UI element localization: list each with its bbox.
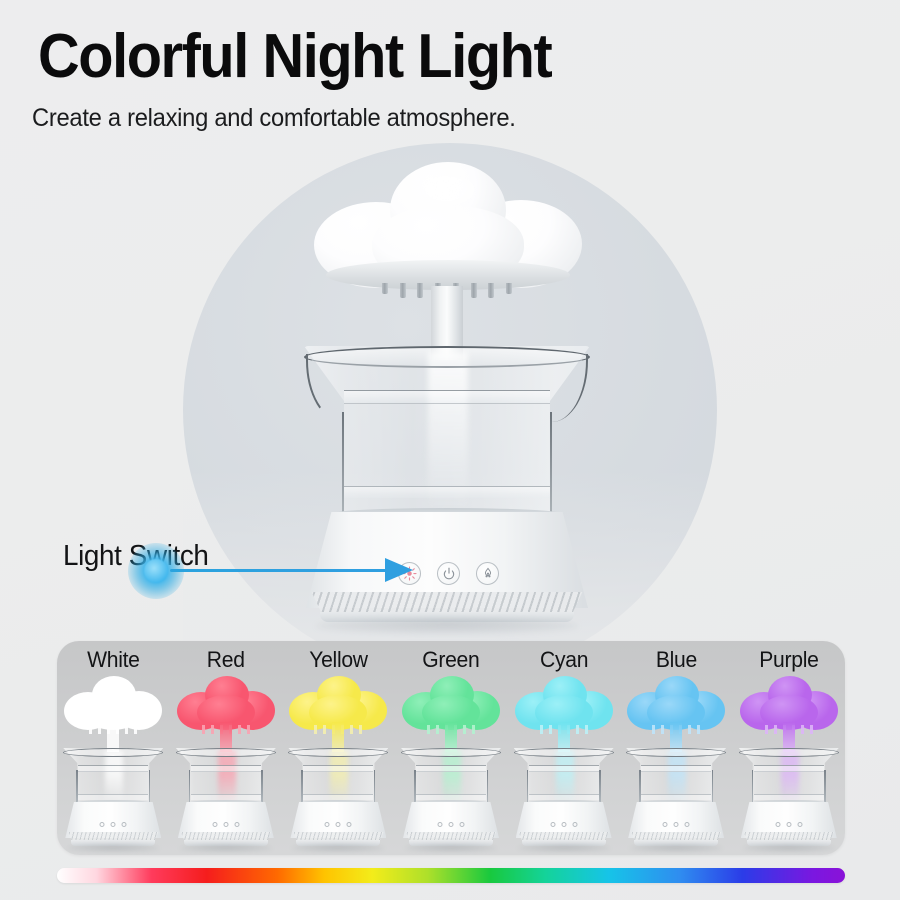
thumb-tank-rim bbox=[739, 748, 839, 757]
thumb-tank-rim bbox=[626, 748, 726, 757]
color-swatch-label: Cyan bbox=[540, 647, 588, 673]
rain-nozzle bbox=[506, 283, 512, 294]
color-swatch-row: WhiteRedYellowGreenCyanBluePurple bbox=[57, 641, 845, 855]
thumb-shadow bbox=[67, 844, 159, 852]
thumb-water-tank bbox=[514, 748, 614, 806]
rain-nozzle bbox=[382, 283, 388, 294]
thumb-water-line bbox=[641, 765, 711, 772]
thumb-water-tank bbox=[63, 748, 163, 806]
thumb-water-line bbox=[78, 765, 148, 772]
thumb-water-line bbox=[303, 765, 373, 772]
thumb-water-line bbox=[191, 765, 261, 772]
thumb-tank-wall bbox=[414, 770, 416, 806]
thumb-tank-wall bbox=[639, 770, 641, 806]
color-swatch-label: Purple bbox=[759, 647, 818, 673]
product-thumbnail bbox=[395, 676, 507, 851]
thumb-control-dots bbox=[325, 822, 352, 827]
thumb-shadow bbox=[405, 844, 497, 852]
product-thumbnail bbox=[170, 676, 282, 851]
control-button-group[interactable] bbox=[398, 562, 499, 585]
thumb-tank-rim bbox=[63, 748, 163, 757]
thumb-control-dots bbox=[438, 822, 465, 827]
thumb-tank-rim bbox=[288, 748, 388, 757]
color-options-panel: WhiteRedYellowGreenCyanBluePurple bbox=[57, 641, 845, 855]
product-feature-graphic: Colorful Night Light Create a relaxing a… bbox=[0, 0, 900, 900]
base-shadow bbox=[316, 618, 578, 634]
color-swatch-green: Green bbox=[395, 641, 508, 855]
rainbow-gradient-bar bbox=[57, 868, 845, 883]
rain-nozzle bbox=[400, 283, 406, 298]
tank-wall-right bbox=[550, 412, 552, 518]
callout-arrow-line bbox=[170, 569, 392, 572]
color-swatch-yellow: Yellow bbox=[282, 641, 395, 855]
power-icon bbox=[442, 567, 456, 581]
thumb-tank-wall bbox=[824, 770, 826, 806]
thumb-tank-rim bbox=[514, 748, 614, 757]
mist-droplet-icon bbox=[481, 567, 495, 581]
tank-flare-left bbox=[306, 354, 358, 422]
color-swatch-label: White bbox=[87, 647, 140, 673]
thumb-water-line bbox=[754, 765, 824, 772]
rain-nozzle bbox=[417, 283, 423, 298]
power-button[interactable] bbox=[437, 562, 460, 585]
page-subtitle: Create a relaxing and comfortable atmosp… bbox=[32, 105, 516, 133]
thumb-tank-wall bbox=[374, 770, 376, 806]
thumb-shadow bbox=[518, 844, 610, 852]
thumb-tank-wall bbox=[261, 770, 263, 806]
color-swatch-white: White bbox=[57, 641, 170, 855]
thumb-tank-wall bbox=[487, 770, 489, 806]
cloud-highlight bbox=[414, 174, 478, 208]
color-swatch-cyan: Cyan bbox=[507, 641, 620, 855]
water-level-line bbox=[344, 390, 550, 404]
thumb-control-dots bbox=[212, 822, 239, 827]
callout-glow-core bbox=[144, 559, 168, 583]
product-thumbnail bbox=[620, 676, 732, 851]
rain-nozzle bbox=[488, 283, 494, 298]
thumb-tank-rim bbox=[401, 748, 501, 757]
tank-wall-left bbox=[342, 412, 344, 518]
thumb-control-dots bbox=[663, 822, 690, 827]
thumb-shadow bbox=[292, 844, 384, 852]
color-swatch-red: Red bbox=[170, 641, 283, 855]
thumb-water-line bbox=[416, 765, 486, 772]
thumb-tank-wall bbox=[599, 770, 601, 806]
thumb-tank-wall bbox=[76, 770, 78, 806]
thumb-water-tank bbox=[739, 748, 839, 806]
product-image-main bbox=[286, 160, 606, 635]
thumb-tank-wall bbox=[712, 770, 714, 806]
thumb-water-line bbox=[529, 765, 599, 772]
thumb-tank-rim bbox=[176, 748, 276, 757]
thumb-control-dots bbox=[550, 822, 577, 827]
tank-flare-right bbox=[536, 354, 588, 422]
thumb-water-tank bbox=[176, 748, 276, 806]
product-thumbnail bbox=[508, 676, 620, 851]
callout-arrow-head bbox=[385, 558, 413, 582]
product-thumbnail bbox=[733, 676, 845, 851]
thumb-shadow bbox=[743, 844, 835, 852]
thumb-control-dots bbox=[775, 822, 802, 827]
color-swatch-label: Yellow bbox=[309, 647, 368, 673]
water-tank bbox=[304, 346, 590, 518]
thumb-water-tank bbox=[626, 748, 726, 806]
thumb-tank-wall bbox=[149, 770, 151, 806]
thumb-tank-wall bbox=[301, 770, 303, 806]
product-thumbnail bbox=[282, 676, 394, 851]
tank-lower-seam bbox=[344, 486, 550, 498]
thumb-tank-wall bbox=[189, 770, 191, 806]
thumb-shadow bbox=[630, 844, 722, 852]
mist-button[interactable] bbox=[476, 562, 499, 585]
page-title: Colorful Night Light bbox=[38, 26, 551, 88]
thumb-shadow bbox=[180, 844, 272, 852]
color-swatch-label: Blue bbox=[656, 647, 697, 673]
color-swatch-label: Green bbox=[422, 647, 479, 673]
color-swatch-blue: Blue bbox=[620, 641, 733, 855]
color-swatch-purple: Purple bbox=[732, 641, 845, 855]
product-thumbnail bbox=[57, 676, 169, 851]
thumb-control-dots bbox=[100, 822, 127, 827]
thumb-water-tank bbox=[401, 748, 501, 806]
cloud-diffuser-top bbox=[312, 160, 582, 288]
thumb-water-tank bbox=[288, 748, 388, 806]
thumb-tank-wall bbox=[752, 770, 754, 806]
rain-nozzle bbox=[471, 283, 477, 298]
thumb-tank-wall bbox=[527, 770, 529, 806]
color-swatch-label: Red bbox=[207, 647, 245, 673]
